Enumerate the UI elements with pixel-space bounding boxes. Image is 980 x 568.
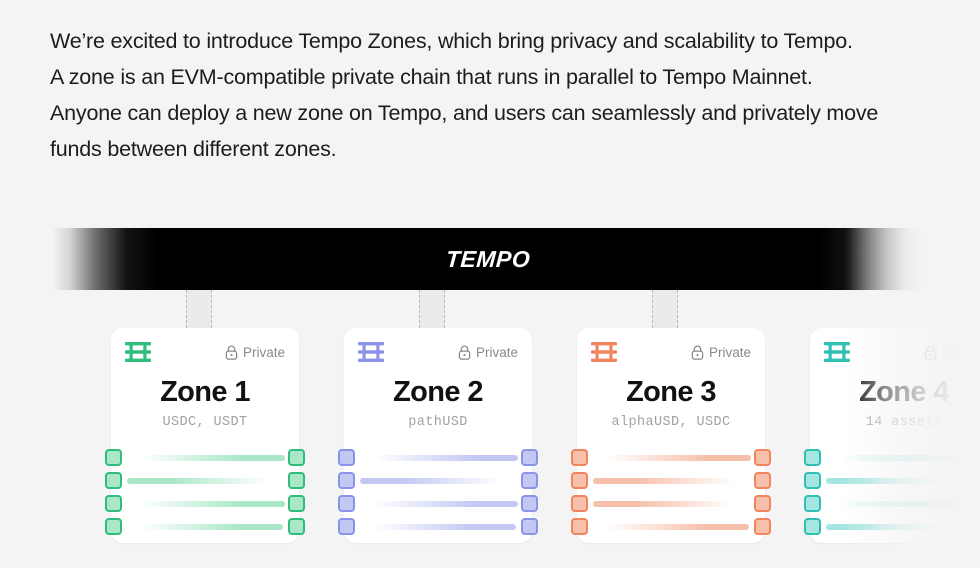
zone-node-row [571,472,771,489]
zone-diagram: TEMPO PrivateZone 1USDC, USDTPrivateZone… [0,228,980,568]
zone-node-row [105,472,305,489]
zone-assets-label: pathUSD [344,415,532,430]
zone-node-left[interactable] [338,472,355,489]
zone-title: Zone 4 [810,376,980,409]
zone-node-left[interactable] [105,472,122,489]
zone-transfer-pill [374,501,518,507]
zone-node-right[interactable] [754,518,771,535]
zone-transfer-pill [593,501,735,507]
zone-rails-icon [591,342,617,362]
zone-assets-label: USDC, USDT [111,415,299,430]
intro-line-2: A zone is an EVM-compatible private chai… [50,59,930,95]
zone-transfer-pill [607,455,751,461]
zone-node-right[interactable] [521,472,538,489]
zone-node-left[interactable] [338,495,355,512]
connector-rail-right [677,290,678,328]
connector-rail-left [186,290,187,328]
zone-node-right[interactable] [754,495,771,512]
zone-transfer-pill [593,478,735,484]
zone-node-left[interactable] [804,449,821,466]
zone-card-2[interactable]: PrivateZone 2pathUSD [344,328,532,543]
zone-transfer-pill [826,524,968,530]
privacy-label: Private [476,345,518,360]
privacy-label: Private [243,345,285,360]
tempo-logo: TEMPO [445,246,531,273]
zone-card-header: Private [824,340,980,364]
zone-transfer-pill [826,478,968,484]
intro-line-3: Anyone can deploy a new zone on Tempo, a… [50,95,930,131]
zone-node-right[interactable] [288,472,305,489]
zone-node-row [338,449,538,466]
zone-node-left[interactable] [105,518,122,535]
zone-node-row [571,495,771,512]
zone-node-left[interactable] [338,518,355,535]
zone-node-left[interactable] [804,472,821,489]
tempo-mainnet-bar: TEMPO [52,228,924,290]
zone-node-row [105,495,305,512]
zone-card-header: Private [358,340,518,364]
zone-node-right[interactable] [288,518,305,535]
zone-assets-label: 14 assets [810,415,980,430]
connector-channel-2 [419,290,445,328]
zone-transfer-pill [840,455,980,461]
zone-node-right[interactable] [521,495,538,512]
zone-node-left[interactable] [105,449,122,466]
privacy-badge: Private [924,345,980,360]
lock-icon [458,345,471,360]
lock-icon [691,345,704,360]
zone-transfer-pill [374,524,516,530]
zone-node-left[interactable] [804,495,821,512]
zone-node-row [571,449,771,466]
intro-paragraph: We’re excited to introduce Tempo Zones, … [50,23,930,167]
zone-assets-label: alphaUSD, USDC [577,415,765,430]
lock-icon [225,345,238,360]
zone-title: Zone 3 [577,376,765,409]
zone-node-right[interactable] [521,518,538,535]
intro-line-4: funds between different zones. [50,131,930,167]
zone-card-header: Private [591,340,751,364]
zone-node-row [338,472,538,489]
zone-node-row [804,495,980,512]
privacy-badge: Private [458,345,518,360]
zone-rails-icon [358,342,384,362]
zone-card-3[interactable]: PrivateZone 3alphaUSD, USDC [577,328,765,543]
zone-transfer-pill [127,478,269,484]
zone-transfer-pill [141,501,285,507]
zone-rails-icon [125,342,151,362]
zone-node-rows [577,449,765,543]
zone-node-right[interactable] [521,449,538,466]
zone-transfer-pill [360,478,502,484]
zone-title: Zone 1 [111,376,299,409]
zone-node-left[interactable] [105,495,122,512]
privacy-badge: Private [225,345,285,360]
zone-node-right[interactable] [754,472,771,489]
zone-transfer-pill [374,455,518,461]
connector-channel-3 [652,290,678,328]
connector-channel-1 [186,290,212,328]
zone-transfer-pill [607,524,749,530]
connector-rail-left [652,290,653,328]
privacy-badge: Private [691,345,751,360]
zone-node-left[interactable] [571,518,588,535]
privacy-label: Private [942,345,980,360]
zone-node-rows [111,449,299,543]
connector-rail-right [211,290,212,328]
zone-rails-icon [824,342,850,362]
connector-rail-left [419,290,420,328]
zone-node-row [338,495,538,512]
zone-title: Zone 2 [344,376,532,409]
zone-node-row [571,518,771,535]
zone-node-right[interactable] [288,495,305,512]
lock-icon [924,345,937,360]
zone-node-row [804,518,980,535]
intro-line-1: We’re excited to introduce Tempo Zones, … [50,23,930,59]
zone-node-row [804,472,980,489]
zone-node-left[interactable] [571,449,588,466]
zone-node-rows [344,449,532,543]
zone-node-left[interactable] [571,472,588,489]
zone-node-right[interactable] [754,449,771,466]
zone-node-row [105,518,305,535]
zone-node-left[interactable] [571,495,588,512]
zone-node-row [105,449,305,466]
zone-transfer-pill [141,524,283,530]
zone-node-right[interactable] [288,449,305,466]
zone-transfer-pill [840,501,980,507]
zone-node-left[interactable] [338,449,355,466]
zone-node-left[interactable] [804,518,821,535]
zone-node-rows [810,449,980,543]
zone-node-row [804,449,980,466]
privacy-label: Private [709,345,751,360]
connector-rail-right [444,290,445,328]
zone-transfer-pill [141,455,285,461]
zone-node-row [338,518,538,535]
zone-card-1[interactable]: PrivateZone 1USDC, USDT [111,328,299,543]
zone-card-4[interactable]: PrivateZone 414 assets [810,328,980,543]
zone-card-header: Private [125,340,285,364]
